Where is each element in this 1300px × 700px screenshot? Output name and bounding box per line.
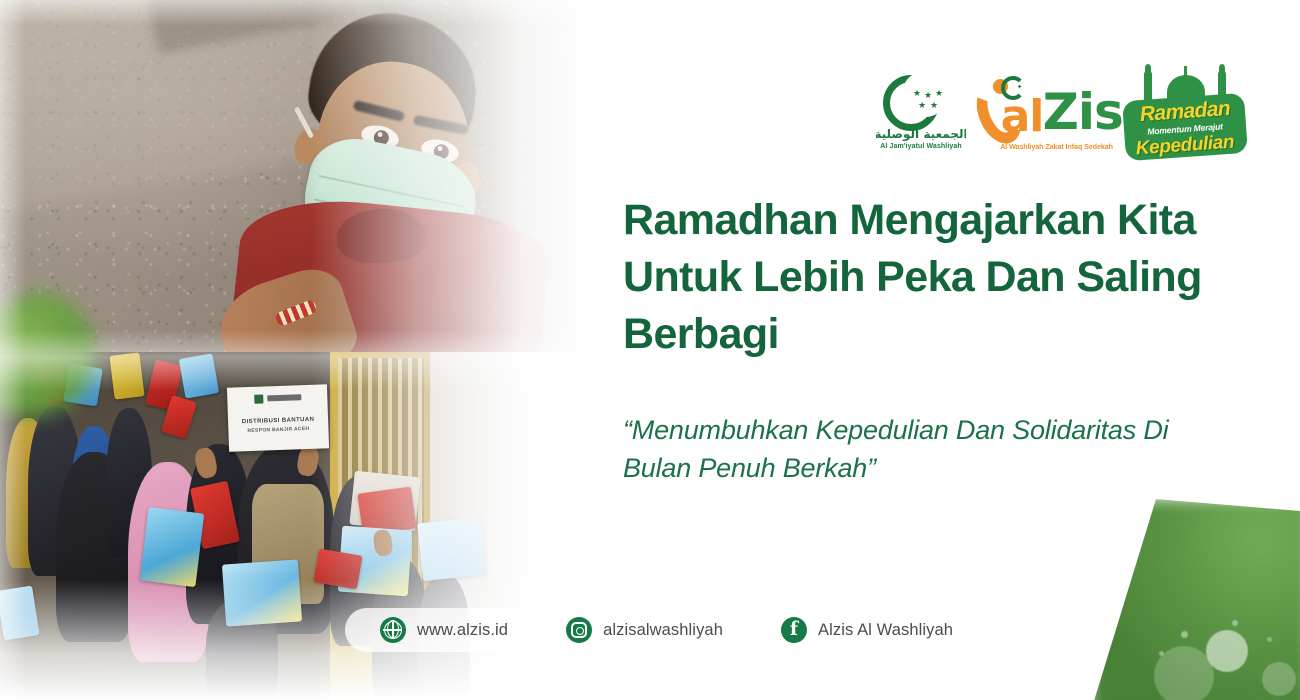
alzis-word-al: al bbox=[1001, 95, 1044, 139]
stars-icon: ★ ★ ★ ★ ★ bbox=[911, 89, 945, 119]
sign-logo-row bbox=[231, 390, 323, 405]
page-title: Ramadhan Mengajarkan Kita Untuk Lebih Pe… bbox=[623, 192, 1243, 364]
aid-package bbox=[179, 353, 219, 398]
bokeh-circle bbox=[1262, 662, 1296, 696]
globe-icon bbox=[380, 617, 406, 643]
boy-figure bbox=[215, 10, 545, 375]
ramadhan-campaign-banner: DISTRIBUSI BANTUAN RESPON BANJIR ACEH ★ … bbox=[0, 0, 1300, 700]
logo-ramadan-badge: Ramadan Momentum Merajut Kepedulian bbox=[1124, 67, 1240, 165]
instagram-icon bbox=[566, 617, 592, 643]
logo-al-jamiyatul-washliyah: ★ ★ ★ ★ ★ الجمعية الوصلية Al Jam'iyatul … bbox=[875, 73, 963, 159]
page-subtitle: “Menumbuhkan Kepedulian Dan Solidaritas … bbox=[623, 412, 1223, 488]
bokeh-circle bbox=[1267, 637, 1272, 642]
alzis-word-zis: Zis bbox=[1043, 87, 1123, 137]
footer-item-instagram[interactable]: alzisalwashliyah bbox=[566, 617, 723, 643]
footer-item-facebook[interactable]: f Alzis Al Washliyah bbox=[781, 617, 953, 643]
bokeh-circle bbox=[1181, 631, 1188, 638]
distribution-banner-sign: DISTRIBUSI BANTUAN RESPON BANJIR ACEH bbox=[227, 384, 329, 451]
bokeh-circle bbox=[1159, 651, 1164, 656]
facebook-icon: f bbox=[781, 617, 807, 643]
shirt-collar bbox=[336, 207, 426, 264]
aid-package bbox=[222, 559, 302, 626]
logo-alzis: ✦ al Zis Al Washliyah Zakat Infaq Sedeka… bbox=[977, 73, 1110, 159]
photo-masked-boy bbox=[0, 0, 620, 375]
footer-item-website[interactable]: www.alzis.id bbox=[380, 617, 508, 643]
logo-row: ★ ★ ★ ★ ★ الجمعية الوصلية Al Jam'iyatul … bbox=[875, 62, 1240, 170]
aid-package bbox=[0, 585, 40, 640]
alzis-tagline: Al Washliyah Zakat Infaq Sedekah bbox=[995, 142, 1119, 151]
footer-instagram-label: alzisalwashliyah bbox=[603, 621, 723, 640]
aid-package bbox=[140, 507, 205, 587]
sign-line-1: DISTRIBUSI BANTUAN bbox=[232, 416, 324, 425]
sign-logo-text bbox=[267, 394, 301, 401]
photo-collage: DISTRIBUSI BANTUAN RESPON BANJIR ACEH bbox=[0, 0, 640, 700]
logo-arabic-calligraphy: الجمعية الوصلية bbox=[876, 125, 966, 143]
footer-website-label: www.alzis.id bbox=[417, 621, 508, 640]
alzis-star-icon: ✦ bbox=[1017, 83, 1023, 91]
bokeh-circle bbox=[1232, 620, 1238, 626]
logo-washliyah-name: Al Jam'iyatul Washliyah bbox=[875, 143, 967, 150]
sign-line-2: RESPON BANJIR ACEH bbox=[232, 425, 324, 434]
aid-package bbox=[417, 517, 487, 581]
aid-package bbox=[109, 352, 144, 399]
footer-facebook-label: Alzis Al Washliyah bbox=[818, 621, 953, 640]
sign-logo-mark bbox=[254, 394, 263, 403]
social-footer: www.alzis.id alzisalwashliyah f Alzis Al… bbox=[380, 608, 953, 652]
aid-package bbox=[313, 548, 362, 589]
